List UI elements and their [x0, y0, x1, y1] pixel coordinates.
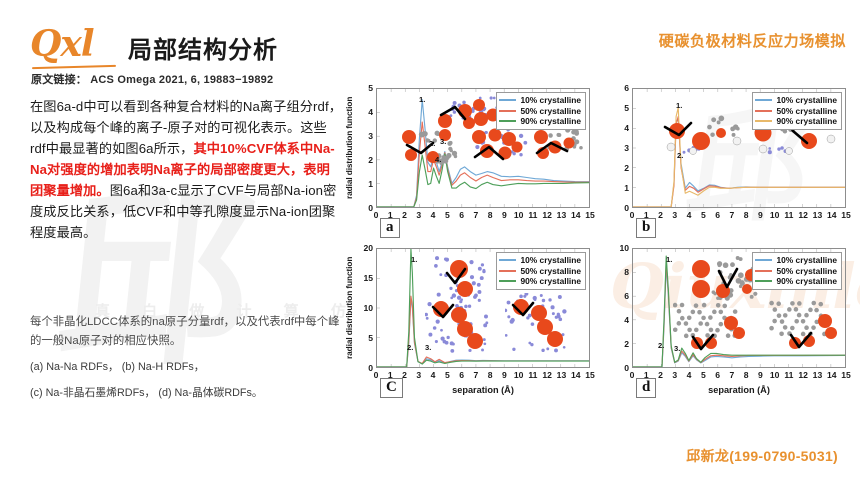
x-tick-label: 10	[770, 210, 780, 220]
legend-swatch	[755, 110, 772, 112]
x-tick-label: 7	[473, 370, 478, 380]
x-tick-label: 13	[813, 370, 823, 380]
y-axis-ticks: 012345	[346, 88, 373, 208]
legend-label: 10% crystalline	[776, 255, 837, 265]
y-tick-label: 6	[603, 291, 629, 301]
x-tick-label: 6	[715, 210, 720, 220]
footer-contact: 邱新龙(199-0790-5031)	[686, 446, 838, 466]
x-tick-label: 4	[431, 370, 436, 380]
x-axis-label: separation (Å)	[376, 385, 590, 395]
x-tick-label: 11	[784, 210, 793, 220]
x-tick-label: 11	[528, 370, 537, 380]
peak-marker: 1.	[419, 95, 425, 104]
plot-area-a: 1.2.3.4.10% crystalline50% crystalline90…	[376, 88, 590, 208]
y-tick-label: 4	[347, 107, 373, 117]
legend-swatch	[755, 259, 772, 261]
x-tick-label: 15	[585, 370, 595, 380]
legend-item[interactable]: 50% crystalline	[499, 106, 581, 117]
x-tick-label: 9	[502, 210, 507, 220]
x-tick-label: 15	[841, 210, 851, 220]
y-tick-label: 5	[347, 333, 373, 343]
x-tick-label: 14	[571, 210, 581, 220]
x-tick-label: 0	[630, 370, 635, 380]
legend-label: 90% crystalline	[520, 116, 581, 126]
x-tick-label: 10	[770, 370, 780, 380]
x-axis-label: separation (Å)	[632, 385, 846, 395]
caption-line-cd: (c) Na-非晶石墨烯RDFs， (d) Na-晶体碳RDFs。	[30, 384, 342, 403]
page-title: 局部结构分析	[128, 30, 278, 65]
y-axis-ticks: 0123456	[602, 88, 629, 208]
legend-swatch	[755, 120, 772, 122]
x-tick-label: 5	[445, 210, 450, 220]
x-tick-label: 0	[374, 370, 379, 380]
legend-swatch	[499, 110, 516, 112]
x-tick-label: 2	[658, 370, 663, 380]
x-tick-label: 11	[528, 210, 537, 220]
legend-label: 50% crystalline	[776, 266, 837, 276]
chart-panel-c: radial distribution function051015201.2.…	[346, 244, 596, 420]
x-tick-label: 12	[798, 210, 808, 220]
peak-marker: 2.	[677, 151, 683, 160]
legend-item[interactable]: 90% crystalline	[499, 276, 581, 287]
x-tick-label: 10	[514, 210, 524, 220]
body-paragraph: 在图6a-d中可以看到各种复合材料的Na离子组分rdf，以及构成每个峰的离子-原…	[30, 96, 342, 243]
x-tick-label: 0	[374, 210, 379, 220]
header-banner: 硬碳负极材料反应力场模拟	[659, 30, 846, 51]
x-axis-ticks: 0123456789101112131415	[376, 210, 590, 222]
x-tick-label: 13	[557, 210, 567, 220]
legend-swatch	[755, 270, 772, 272]
y-tick-label: 1	[347, 179, 373, 189]
plot-area-c: 1.2.3.10% crystalline50% crystalline90% …	[376, 248, 590, 368]
legend-label: 50% crystalline	[520, 266, 581, 276]
molecule-snapshot	[425, 293, 497, 355]
panel-label-a: a	[380, 218, 400, 238]
legend-item[interactable]: 10% crystalline	[755, 95, 837, 106]
x-axis-ticks: 0123456789101112131415	[376, 370, 590, 382]
legend-label: 50% crystalline	[776, 106, 837, 116]
x-tick-label: 15	[585, 210, 595, 220]
panel-label-c: C	[380, 378, 403, 398]
x-tick-label: 10	[514, 370, 524, 380]
x-tick-label: 11	[784, 370, 793, 380]
x-tick-label: 7	[729, 210, 734, 220]
x-tick-label: 7	[729, 370, 734, 380]
y-tick-label: 10	[347, 303, 373, 313]
x-tick-label: 4	[431, 210, 436, 220]
x-tick-label: 3	[416, 370, 421, 380]
y-tick-label: 15	[347, 273, 373, 283]
y-tick-label: 2	[347, 155, 373, 165]
peak-marker: 2.	[658, 341, 664, 350]
y-tick-label: 3	[603, 143, 629, 153]
source-label: 原文链接：	[31, 74, 87, 86]
peak-marker: 3.	[440, 137, 446, 146]
x-tick-label: 9	[758, 370, 763, 380]
x-tick-label: 2	[402, 210, 407, 220]
x-tick-label: 9	[758, 210, 763, 220]
molecule-snapshot	[465, 125, 531, 169]
legend-item[interactable]: 90% crystalline	[755, 116, 837, 127]
y-tick-label: 5	[603, 103, 629, 113]
x-tick-label: 8	[488, 210, 493, 220]
peak-marker: 4.	[435, 155, 441, 164]
y-tick-label: 0	[347, 363, 373, 373]
x-tick-label: 14	[827, 370, 837, 380]
figure-caption: 每个非晶化LDCC体系的na原子分量rdf，以及代表rdf中每个峰的一般Na原子…	[30, 313, 342, 403]
panel-label-b: b	[636, 218, 656, 238]
molecule-snapshot	[505, 293, 575, 355]
y-tick-label: 0	[603, 203, 629, 213]
molecule-snapshot	[399, 127, 461, 169]
x-tick-label: 8	[744, 210, 749, 220]
x-tick-label: 13	[557, 370, 567, 380]
legend-label: 90% crystalline	[776, 276, 837, 286]
y-tick-label: 0	[603, 363, 629, 373]
legend-label: 10% crystalline	[776, 95, 837, 105]
figure-rdf-panels: radial distribution function0123451.2.3.…	[346, 84, 850, 404]
panel-label-d: d	[636, 378, 656, 398]
plot-area-d: 1.2.3.10% crystalline50% crystalline90% …	[632, 248, 846, 368]
peak-marker: 2.	[429, 139, 435, 148]
chart-panel-a: radial distribution function0123451.2.3.…	[346, 84, 596, 244]
x-tick-label: 6	[715, 370, 720, 380]
legend-label: 90% crystalline	[520, 276, 581, 286]
y-tick-label: 0	[347, 203, 373, 213]
y-tick-label: 6	[603, 83, 629, 93]
legend-item[interactable]: 50% crystalline	[755, 266, 837, 277]
caption-line-ab: (a) Na-Na RDFs， (b) Na-H RDFs，	[30, 358, 342, 377]
legend-label: 10% crystalline	[520, 255, 581, 265]
legend-swatch	[499, 259, 516, 261]
x-tick-label: 12	[542, 210, 552, 220]
chart-legend: 10% crystalline50% crystalline90% crysta…	[496, 92, 586, 130]
y-tick-label: 10	[603, 243, 629, 253]
chart-panel-d: 02468101.2.3.10% crystalline50% crystall…	[602, 244, 852, 420]
x-tick-label: 8	[744, 370, 749, 380]
x-tick-label: 12	[542, 370, 552, 380]
chart-legend: 10% crystalline50% crystalline90% crysta…	[496, 252, 586, 290]
legend-swatch	[755, 99, 772, 101]
peak-marker: 3.	[425, 343, 431, 352]
x-tick-label: 4	[687, 370, 692, 380]
x-tick-label: 12	[798, 370, 808, 380]
y-tick-label: 2	[603, 339, 629, 349]
plot-area-b: 1.2.10% crystalline50% crystalline90% cr…	[632, 88, 846, 208]
legend-swatch	[499, 280, 516, 282]
x-tick-label: 6	[459, 210, 464, 220]
peak-marker: 3.	[674, 344, 680, 353]
y-axis-ticks: 05101520	[346, 248, 373, 368]
x-tick-label: 14	[827, 210, 837, 220]
molecule-snapshot	[659, 111, 751, 159]
legend-label: 50% crystalline	[520, 106, 581, 116]
peak-marker: 1.	[666, 255, 672, 264]
caption-main: 每个非晶化LDCC体系的na原子分量rdf，以及代表rdf中每个峰的一般Na原子…	[30, 316, 339, 347]
x-tick-label: 9	[502, 370, 507, 380]
peak-marker: 1.	[676, 101, 682, 110]
y-tick-label: 8	[603, 267, 629, 277]
y-tick-label: 2	[603, 163, 629, 173]
x-tick-label: 8	[488, 370, 493, 380]
x-tick-label: 13	[813, 210, 823, 220]
peak-marker: 2.	[407, 343, 413, 352]
x-tick-label: 3	[672, 210, 677, 220]
x-tick-label: 6	[459, 370, 464, 380]
legend-item[interactable]: 10% crystalline	[755, 255, 837, 266]
molecule-snapshot	[769, 299, 841, 355]
x-tick-label: 5	[701, 370, 706, 380]
peak-marker: 1.	[411, 255, 417, 264]
brand-logo-underline	[32, 65, 116, 69]
x-tick-label: 5	[701, 210, 706, 220]
x-tick-label: 3	[416, 210, 421, 220]
y-tick-label: 1	[603, 183, 629, 193]
brand-logo: Qxl	[30, 26, 94, 62]
x-axis-ticks: 0123456789101112131415	[632, 370, 846, 382]
source-citation: 原文链接： ACS Omega 2021, 6, 19883−19892	[31, 71, 273, 87]
y-tick-label: 20	[347, 243, 373, 253]
legend-label: 90% crystalline	[776, 116, 837, 126]
x-axis-ticks: 0123456789101112131415	[632, 210, 846, 222]
x-tick-label: 2	[658, 210, 663, 220]
y-tick-label: 5	[347, 83, 373, 93]
x-tick-label: 2	[402, 370, 407, 380]
chart-legend: 10% crystalline50% crystalline90% crysta…	[752, 92, 842, 130]
legend-item[interactable]: 90% crystalline	[755, 276, 837, 287]
legend-item[interactable]: 10% crystalline	[499, 255, 581, 266]
legend-swatch	[499, 270, 516, 272]
x-tick-label: 4	[687, 210, 692, 220]
x-tick-label: 14	[571, 370, 581, 380]
y-tick-label: 4	[603, 123, 629, 133]
x-tick-label: 3	[672, 370, 677, 380]
chart-legend: 10% crystalline50% crystalline90% crysta…	[752, 252, 842, 290]
source-value: ACS Omega 2021, 6, 19883−19892	[90, 74, 273, 86]
legend-label: 10% crystalline	[520, 95, 581, 105]
x-tick-label: 0	[630, 210, 635, 220]
y-tick-label: 3	[347, 131, 373, 141]
x-tick-label: 7	[473, 210, 478, 220]
y-axis-ticks: 0246810	[602, 248, 629, 368]
legend-swatch	[499, 120, 516, 122]
molecule-snapshot	[673, 299, 751, 355]
legend-item[interactable]: 50% crystalline	[499, 266, 581, 277]
legend-item[interactable]: 50% crystalline	[755, 106, 837, 117]
legend-item[interactable]: 10% crystalline	[499, 95, 581, 106]
x-tick-label: 15	[841, 370, 851, 380]
legend-swatch	[499, 99, 516, 101]
y-tick-label: 4	[603, 315, 629, 325]
chart-panel-b: 01234561.2.10% crystalline50% crystallin…	[602, 84, 852, 244]
x-tick-label: 5	[445, 370, 450, 380]
legend-item[interactable]: 90% crystalline	[499, 116, 581, 127]
legend-swatch	[755, 280, 772, 282]
